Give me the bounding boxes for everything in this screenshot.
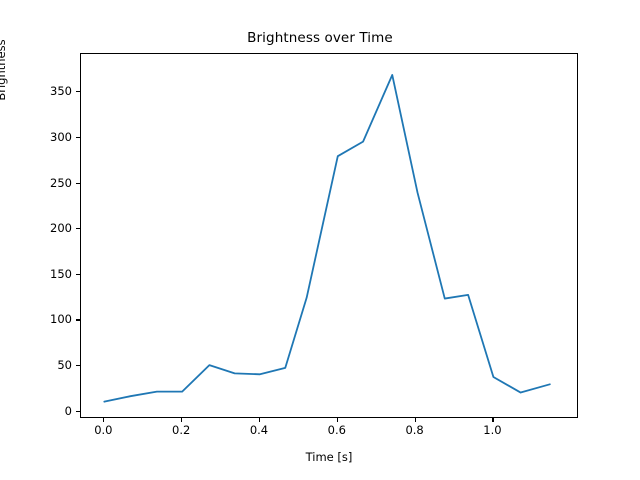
y-axis-tick-label: 250 <box>0 176 72 190</box>
x-axis-tick-label: 0.2 <box>151 423 211 437</box>
x-axis-tick-label: 0.8 <box>385 423 445 437</box>
y-axis-tick-label: 100 <box>0 312 72 326</box>
matplotlib-figure: Brightness over Time Brightness 05010015… <box>0 0 640 480</box>
page-title: Brightness over Time <box>0 30 640 46</box>
y-axis-tick-label: 300 <box>0 130 72 144</box>
x-axis-tick-label: 0.4 <box>229 423 289 437</box>
x-axis-tick-mark <box>415 418 416 422</box>
x-axis-tick-mark <box>259 418 260 422</box>
line-chart-svg <box>81 54 579 419</box>
y-axis-tick-label: 50 <box>0 358 72 372</box>
plot-area <box>80 53 578 418</box>
x-axis-tick-label: 0.0 <box>73 423 133 437</box>
x-axis-tick-mark <box>181 418 182 422</box>
x-axis-tick-mark <box>337 418 338 422</box>
x-axis-tick-label: 0.6 <box>307 423 367 437</box>
x-axis-tick-mark <box>492 418 493 422</box>
x-axis-tick-label: 1.0 <box>462 423 522 437</box>
y-axis-tick-label: 200 <box>0 221 72 235</box>
y-axis-label: Brightness <box>0 0 8 140</box>
y-axis-tick-label: 0 <box>0 404 72 418</box>
series-line-brightness <box>104 75 549 402</box>
x-axis-tick-mark <box>103 418 104 422</box>
x-axis-label: Time [s] <box>80 450 578 464</box>
y-axis-tick-label: 150 <box>0 267 72 281</box>
y-axis-tick-label: 350 <box>0 84 72 98</box>
